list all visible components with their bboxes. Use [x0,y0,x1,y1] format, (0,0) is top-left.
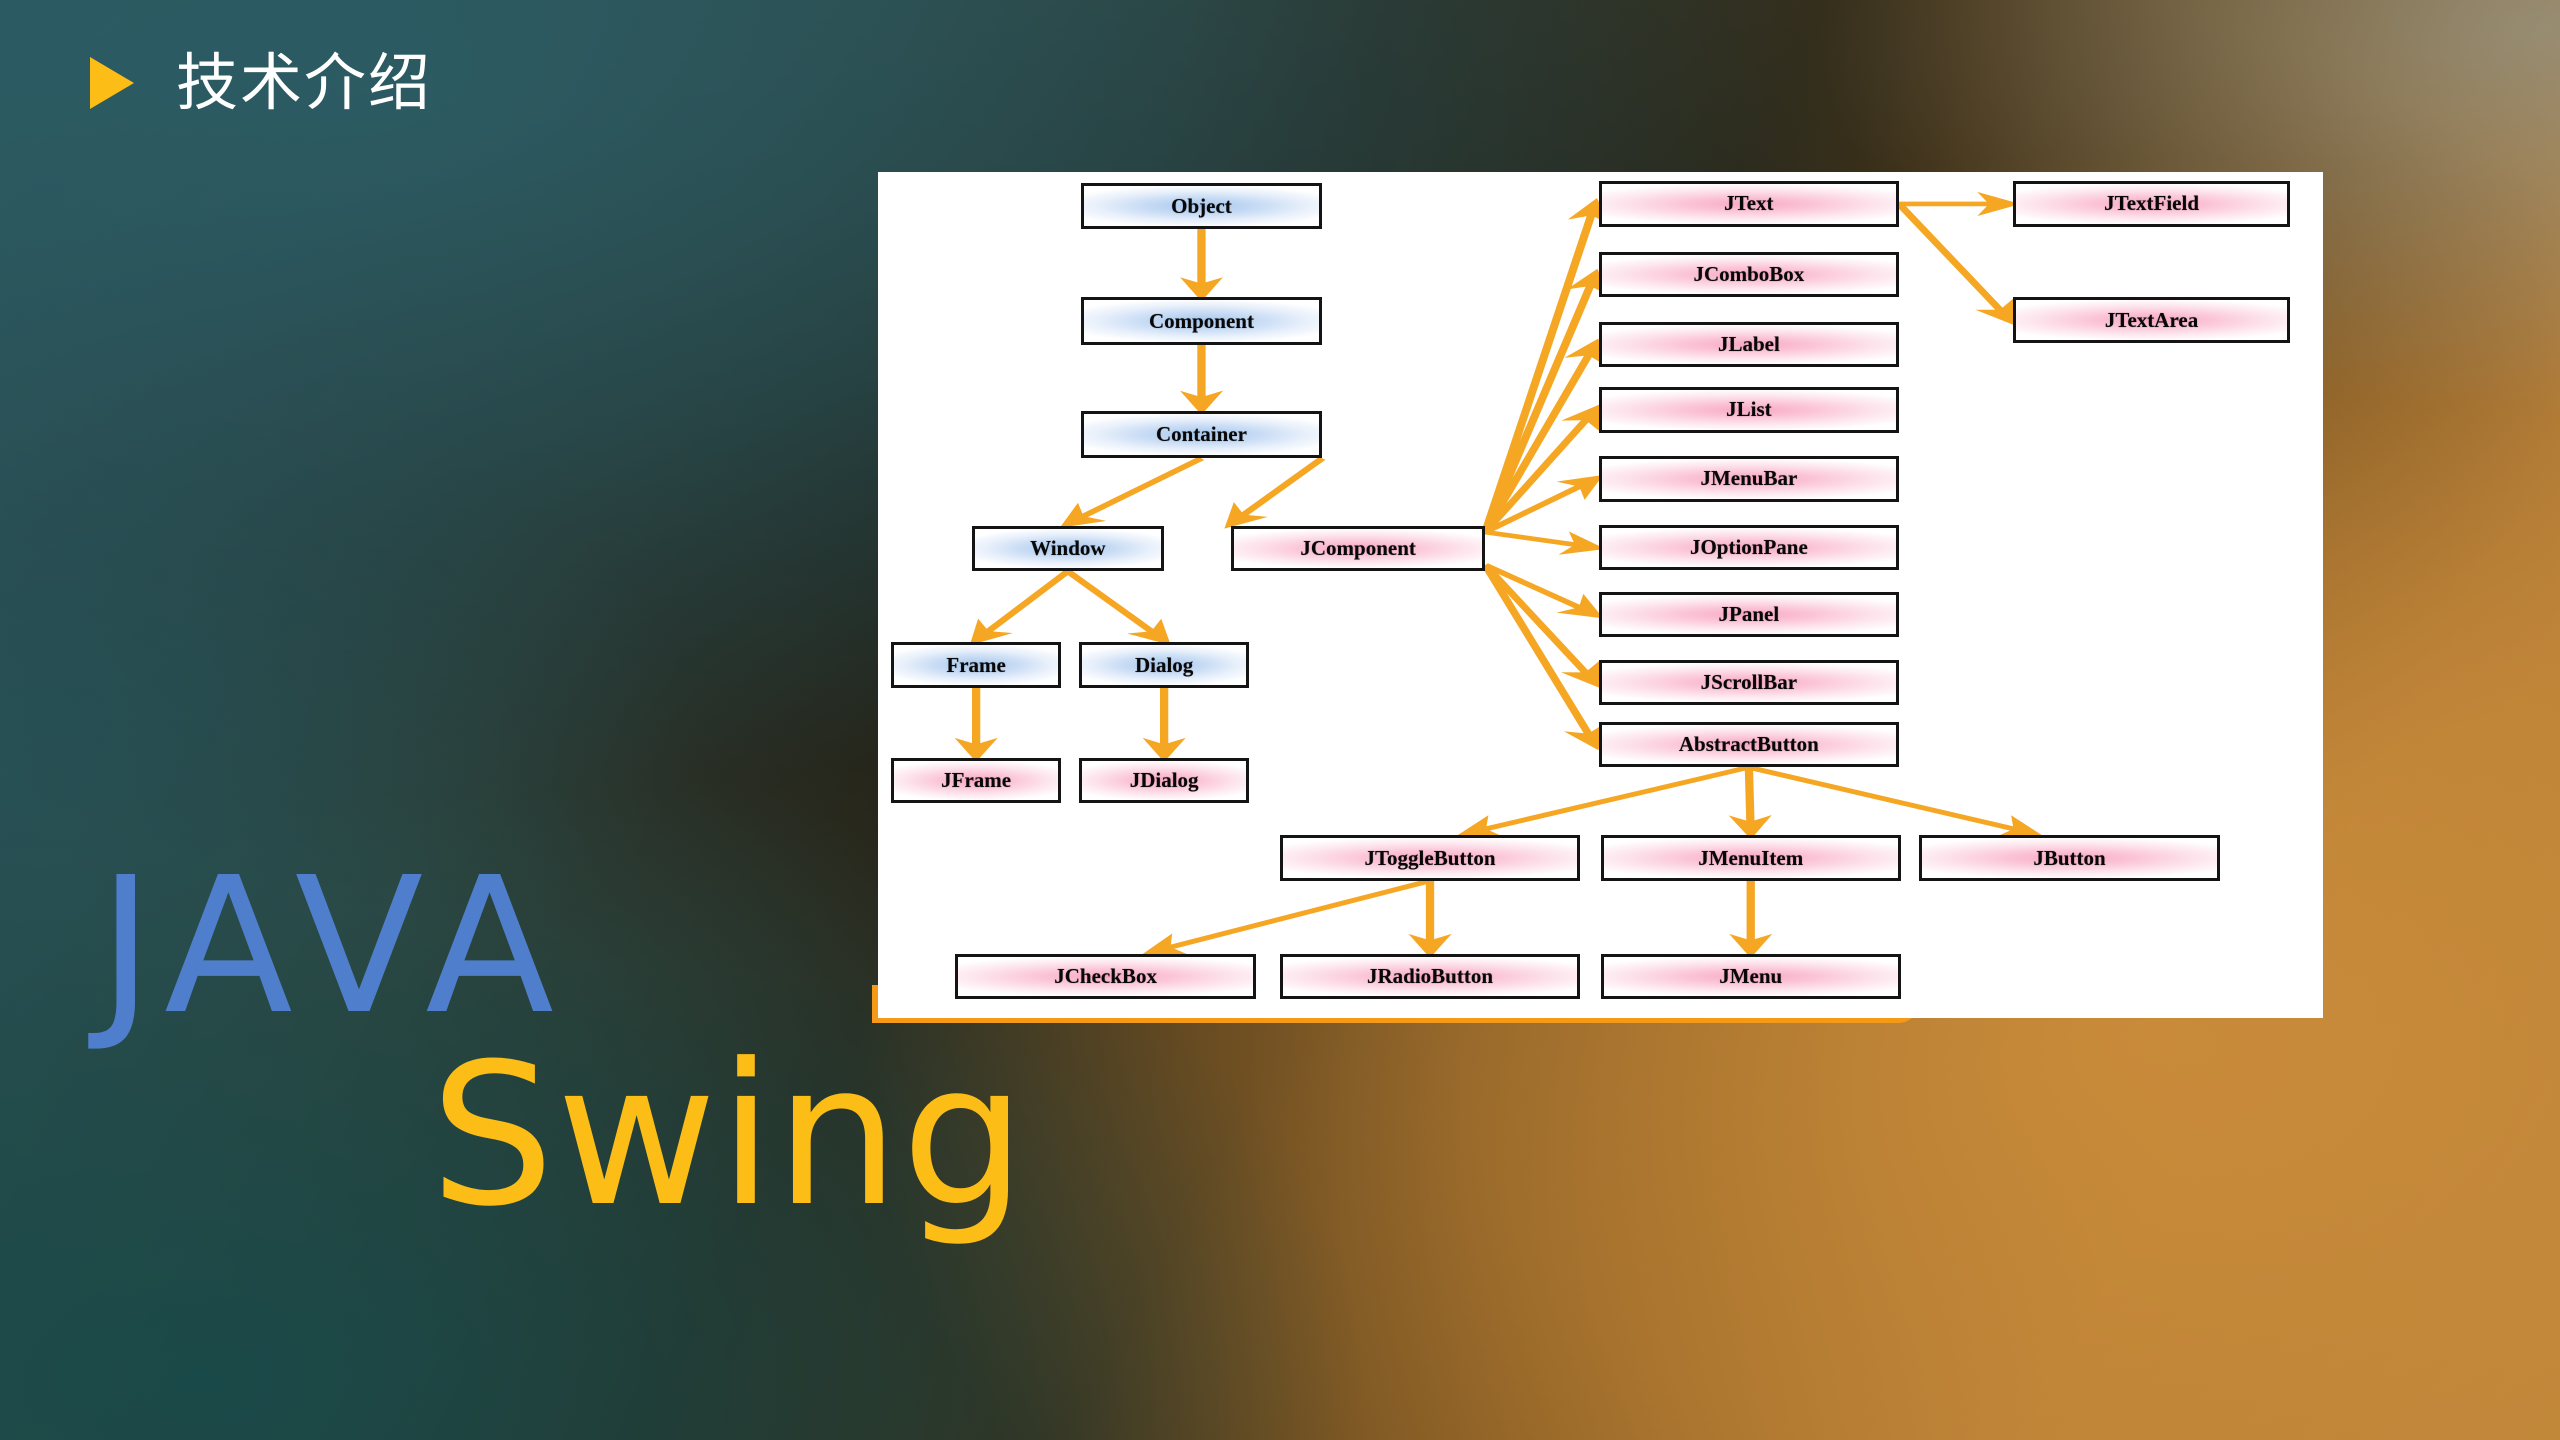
diagram-edge-jcomponent-to-joptionpane [1485,532,1595,547]
diagram-edge-abstractbutton-to-jbutton [1749,767,2033,833]
diagram-node-jmenuitem: JMenuItem [1601,835,1901,880]
diagram-node-jtextfield: JTextField [2013,181,2289,226]
diagram-node-component: Component [1081,297,1322,344]
diagram-node-jdialog: JDialog [1079,758,1249,803]
diagram-edge-jtogglebutton-to-jcheckbox [1152,881,1430,952]
diagram-edge-jcomponent-to-jcombobox [1485,275,1595,532]
diagram-node-jlist: JList [1599,387,1899,432]
diagram-node-window: Window [972,526,1164,571]
diagram-node-abstractbutton: AbstractButton [1599,722,1899,767]
diagram-node-object: Object [1081,183,1322,228]
diagram-node-jlabel: JLabel [1599,322,1899,367]
diagram-edge-abstractbutton-to-jmenuitem [1749,767,1751,833]
slide-heading: 技术介绍 [90,52,432,114]
diagram-node-container: Container [1081,411,1322,458]
diagram-node-jpanel: JPanel [1599,592,1899,637]
wordmark-swing: Swing [430,1048,1028,1224]
diagram-node-frame: Frame [891,642,1061,687]
diagram-node-jtextarea: JTextArea [2013,297,2289,342]
diagram-node-jscrollbar: JScrollBar [1599,660,1899,705]
diagram-edge-abstractbutton-to-jtogglebutton [1467,767,1749,833]
diagram-edge-jtext-to-jtextarea [1899,204,2010,320]
diagram-edge-window-to-dialog [1068,571,1164,640]
diagram-node-jcomponent: JComponent [1231,526,1485,571]
diagram-node-jmenubar: JMenuBar [1599,456,1899,501]
triangle-right-icon [90,57,134,109]
diagram-node-jtogglebutton: JToggleButton [1280,835,1580,880]
diagram-edge-jcomponent-to-jscrollbar [1485,565,1595,683]
swing-hierarchy-diagram: ObjectComponentContainerWindowJComponent… [878,172,2323,1018]
diagram-node-jbutton: JButton [1919,835,2219,880]
diagram-edge-container-to-window [1068,458,1202,524]
diagram-node-jcheckbox: JCheckBox [955,954,1255,999]
diagram-edge-window-to-frame [976,571,1068,640]
diagram-node-jmenu: JMenu [1601,954,1901,999]
diagram-node-jtext: JText [1599,181,1899,226]
diagram-node-dialog: Dialog [1079,642,1249,687]
diagram-node-joptionpane: JOptionPane [1599,525,1899,570]
diagram-node-jradiobutton: JRadioButton [1280,954,1580,999]
presentation-slide: 技术介绍 JAVA Swing ObjectComponentContainer… [0,0,2560,1440]
diagram-edge-container-to-jcomponent [1231,458,1322,524]
heading-label: 技术介绍 [176,52,432,114]
diagram-node-jframe: JFrame [891,758,1061,803]
diagram-node-jcombobox: JComboBox [1599,252,1899,297]
wordmark-java: JAVA [98,862,568,1031]
